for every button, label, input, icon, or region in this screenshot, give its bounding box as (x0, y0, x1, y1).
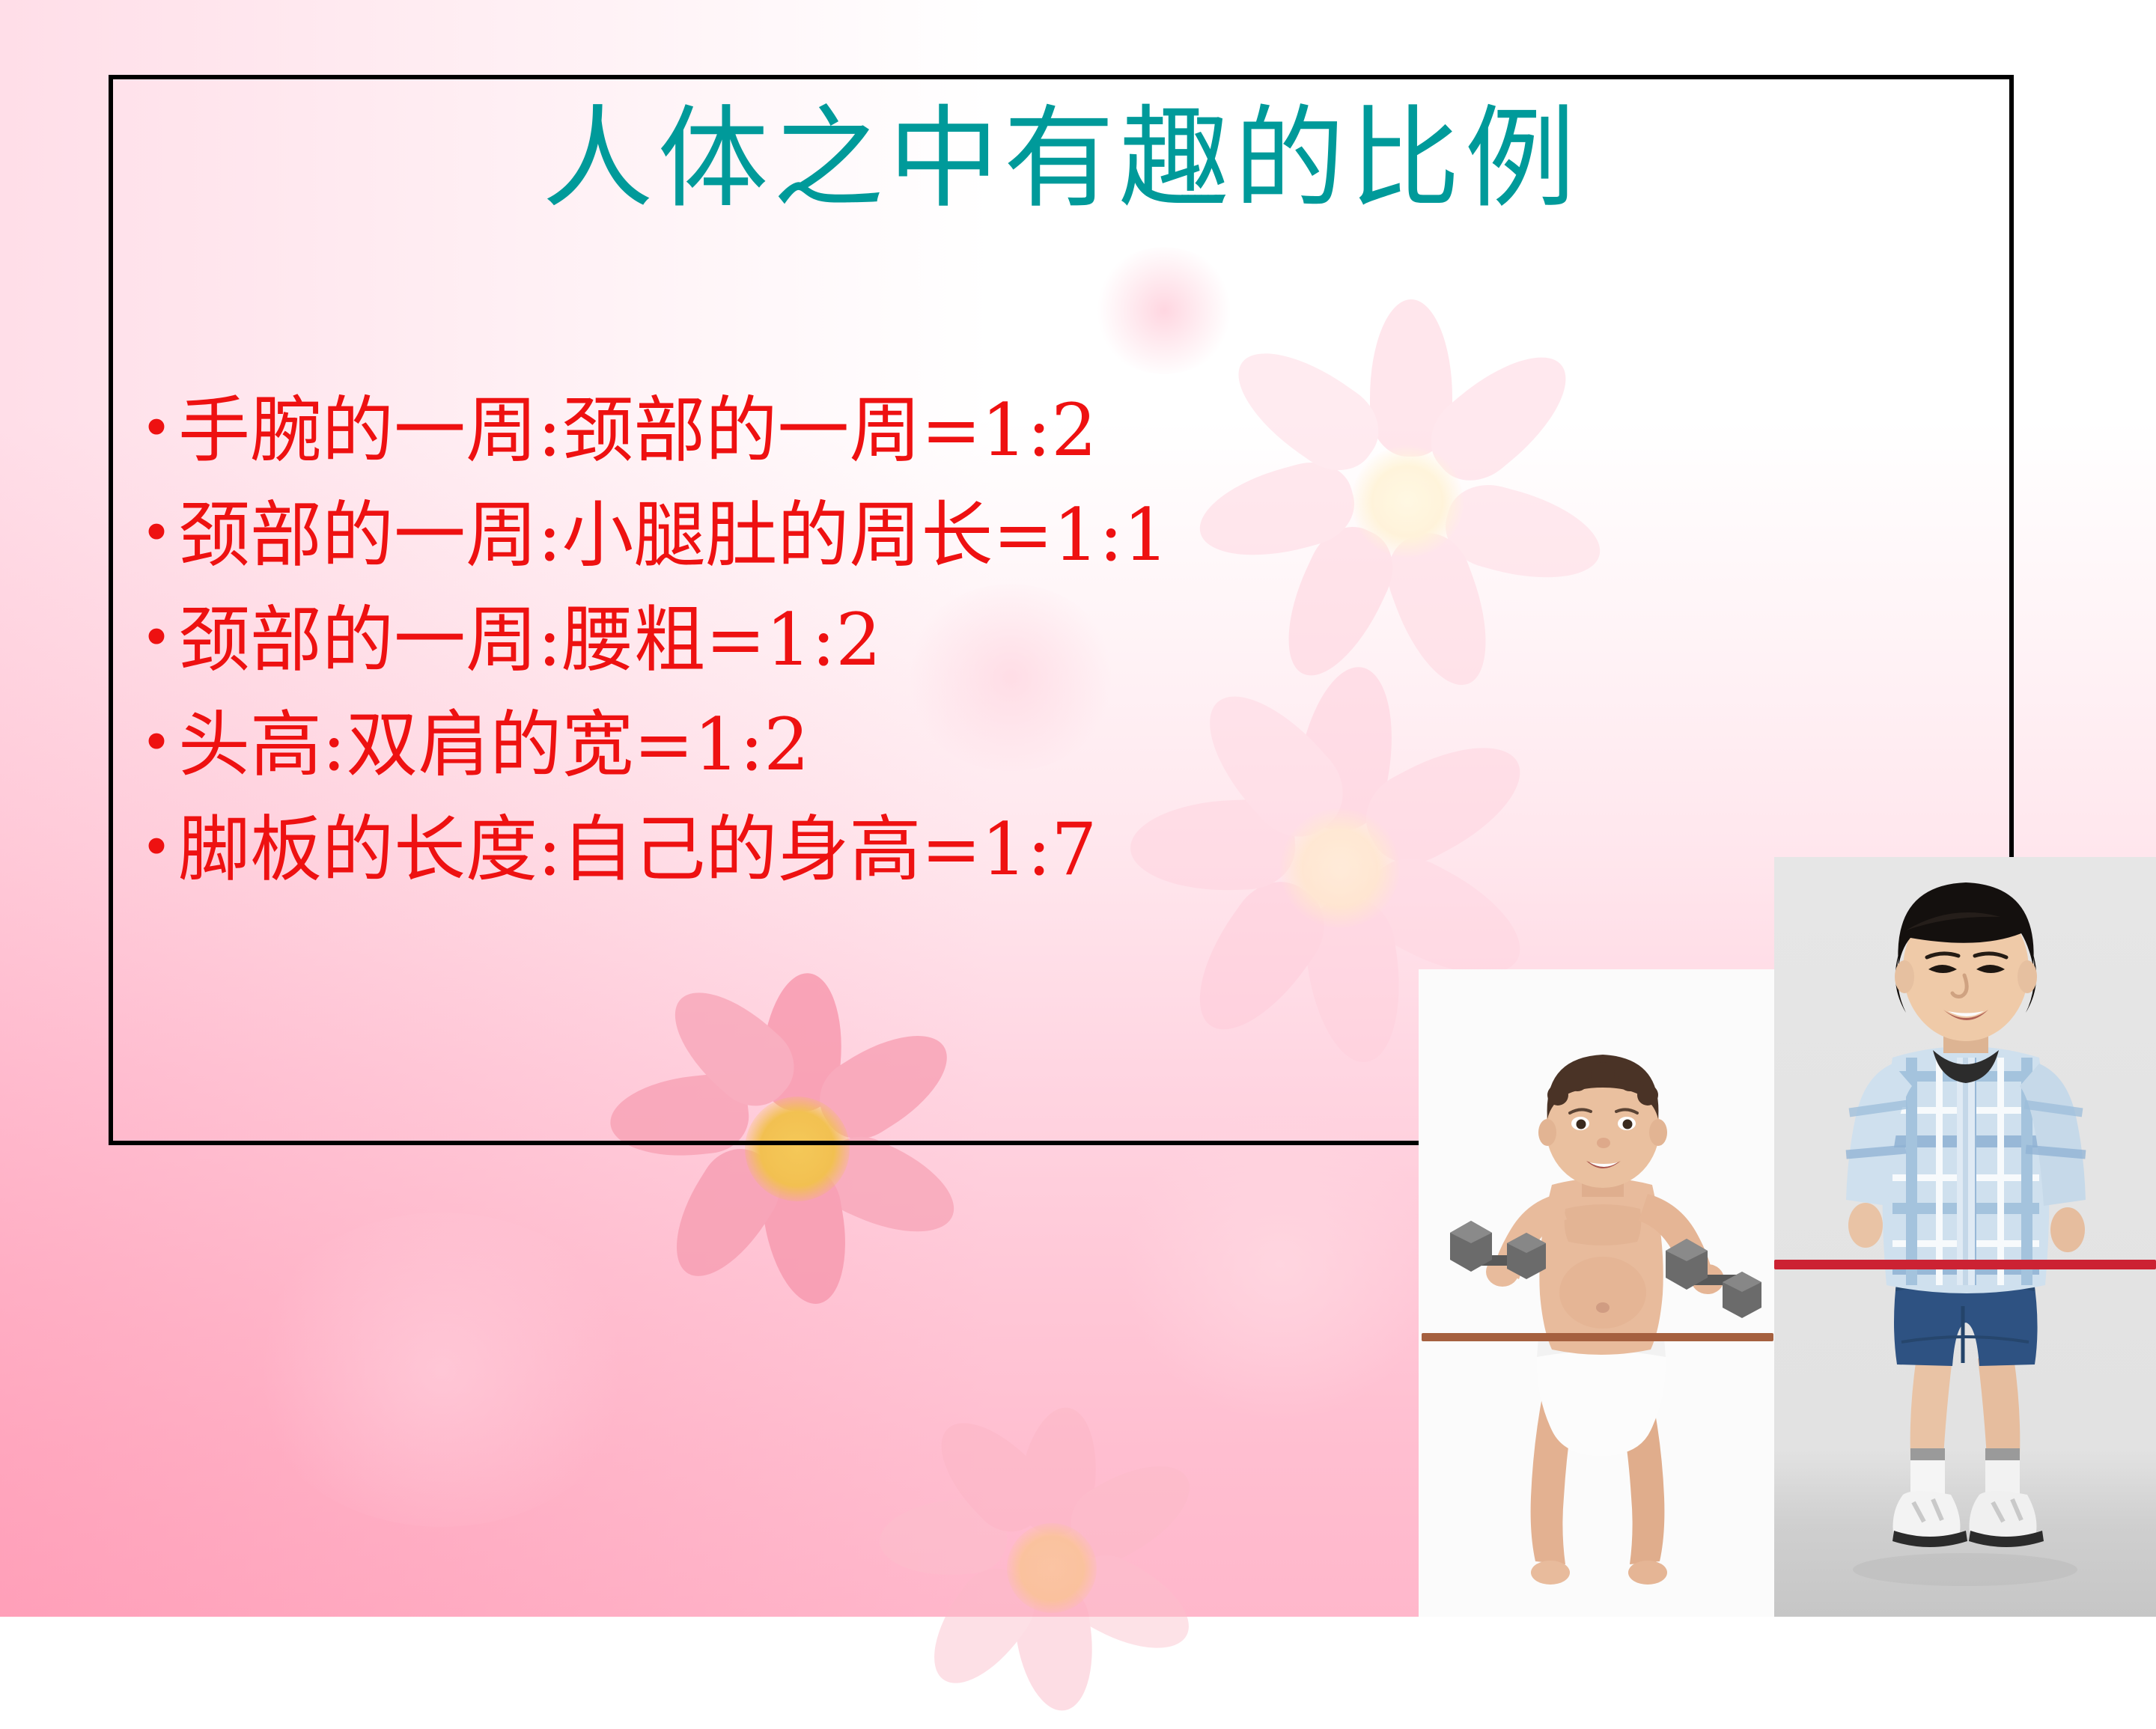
bullet-dot-icon: • (135, 599, 178, 677)
bullet-dot-icon: • (135, 389, 178, 467)
flower-blob-bottom-left (247, 1213, 636, 1527)
list-item-label: 颈部的一周:小腿肚的周长=1:1 (178, 494, 1169, 576)
measurement-line (1422, 1333, 1773, 1341)
list-item: • 脚板的长度:自己的身高=1:7 (135, 808, 1931, 891)
photo-boy-in-plaid-shirt (1774, 857, 2156, 1617)
bullet-dot-icon: • (135, 704, 178, 781)
list-item-label: 颈部的一周:腰粗=1:2 (178, 599, 881, 681)
list-item: • 颈部的一周:腰粗=1:2 (135, 599, 1931, 681)
list-item-label: 头高:双肩的宽=1:2 (178, 704, 809, 786)
measurement-line (1774, 1260, 2156, 1269)
photo-baby-with-dumbbells (1419, 969, 1793, 1617)
flower-blob-right-low (1123, 1108, 1437, 1422)
page-title: 人体之中有趣的比例 (109, 90, 2014, 228)
list-item-label: 脚板的长度:自己的身高=1:7 (178, 808, 1097, 891)
list-item: • 头高:双肩的宽=1:2 (135, 704, 1931, 786)
list-item: • 颈部的一周:小腿肚的周长=1:1 (135, 494, 1931, 576)
boy-illustration (1774, 857, 2156, 1617)
flower-decoration-bottom (891, 1407, 1213, 1729)
slide-background: 人体之中有趣的比例 • 手腕的一周:颈部的一周=1:2 • 颈部的一周:小腿肚的… (0, 0, 2156, 1617)
bullet-dot-icon: • (135, 494, 178, 572)
bullet-dot-icon: • (135, 808, 178, 886)
list-item: • 手腕的一周:颈部的一周=1:2 (135, 389, 1931, 472)
bullet-list: • 手腕的一周:颈部的一周=1:2 • 颈部的一周:小腿肚的周长=1:1 • 颈… (135, 389, 1931, 913)
list-item-label: 手腕的一周:颈部的一周=1:2 (178, 389, 1097, 472)
baby-illustration (1419, 969, 1793, 1617)
